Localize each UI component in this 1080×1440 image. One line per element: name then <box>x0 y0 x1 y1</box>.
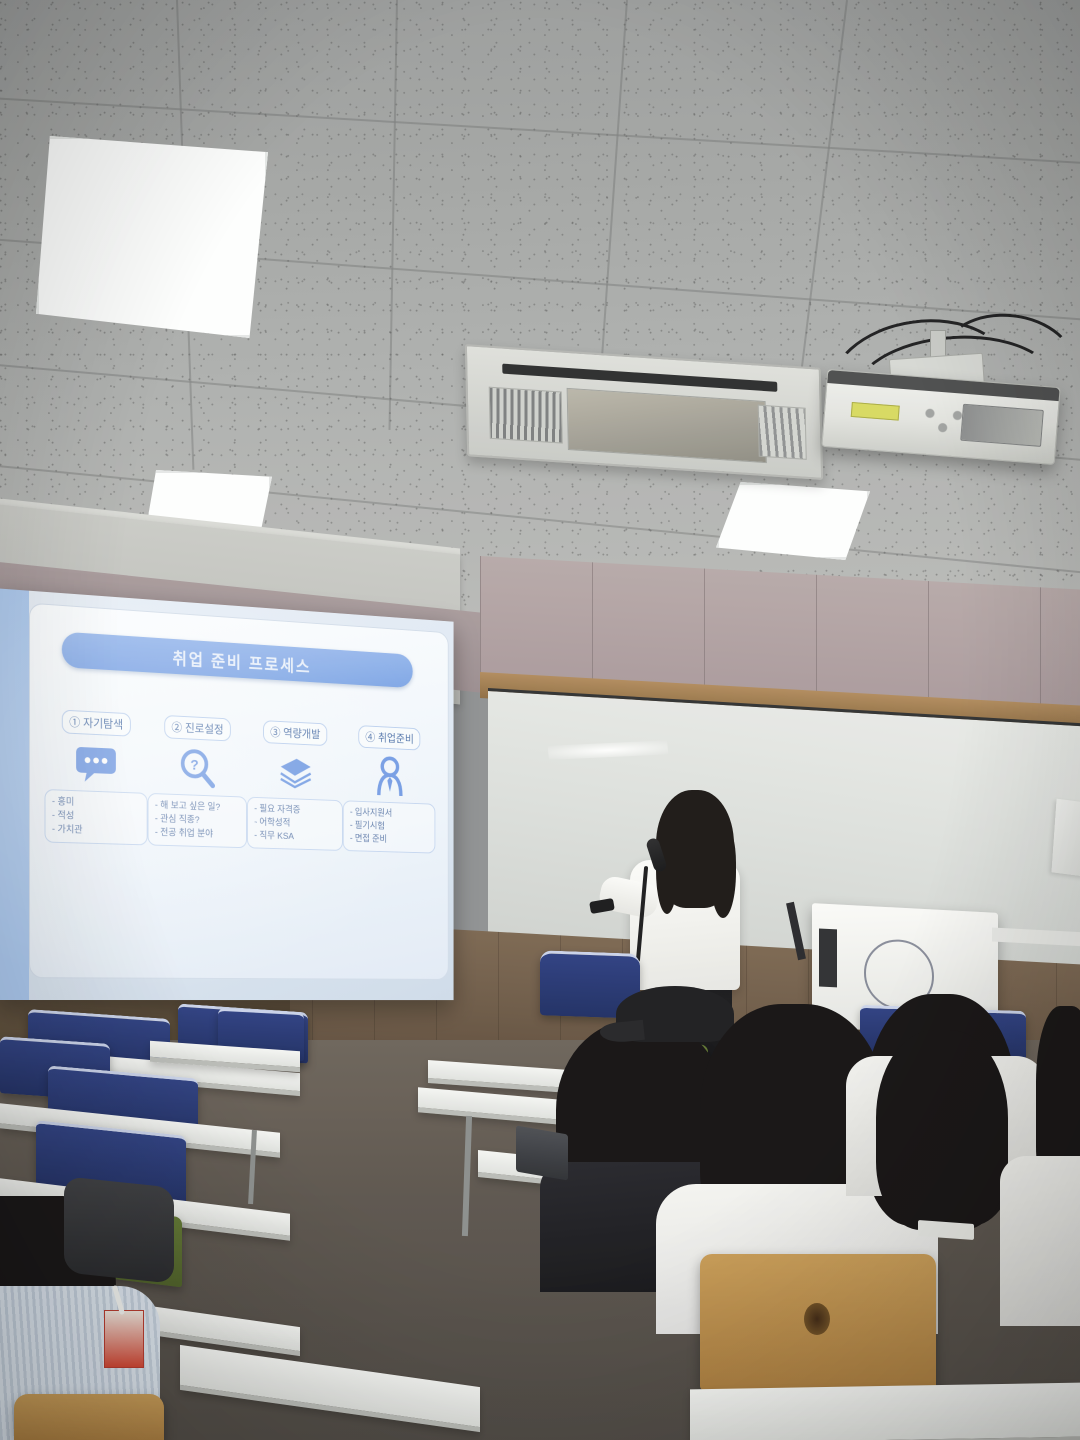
chair-burn-mark <box>804 1303 830 1335</box>
juice-carton-with-straw[interactable] <box>104 1310 144 1368</box>
slide-column-1-bullets: - 흥미 - 적성 - 가치관 <box>44 789 147 845</box>
bullet: - 가치관 <box>52 823 140 839</box>
slide-column-3-bullets: - 필요 자격증 - 어학성적 - 직무 KSA <box>247 797 343 851</box>
slide-columns: ① 자기탐색 - 흥미 - 적성 - 가치관 ② 진 <box>48 709 432 853</box>
slide-column-2: ② 진로설정 ? - 해 보고 싶은 일? - 관심 직종? - 전공 취업 분… <box>151 715 243 848</box>
books-icon <box>277 751 314 796</box>
speech-bubble-icon <box>75 741 117 788</box>
bullet: - 직무 KSA <box>254 829 336 845</box>
tablet-device[interactable] <box>516 1125 568 1180</box>
slide-column-2-header: ② 진로설정 <box>164 715 231 741</box>
ac-filter-face <box>566 387 766 463</box>
whiteboard-cloth <box>1051 799 1080 877</box>
chair-wood-foreground-left[interactable] <box>14 1394 164 1440</box>
slide-column-1-header: ① 자기탐색 <box>62 710 131 737</box>
slide-column-4-header: ④ 취업준비 <box>359 725 421 750</box>
person-tie-icon <box>374 755 406 799</box>
svg-text:?: ? <box>191 758 199 774</box>
slide-left-band <box>0 588 29 1000</box>
bullet: - 면접 준비 <box>350 832 429 847</box>
student-hair-front <box>876 1030 1008 1230</box>
ac-louver <box>758 404 807 459</box>
ac-side-grill <box>489 387 562 444</box>
slide-title: 취업 준비 프로세스 <box>173 645 312 678</box>
podium-side-panel <box>819 928 837 987</box>
slide-title-bar: 취업 준비 프로세스 <box>61 632 412 689</box>
presenter-hair <box>656 790 734 908</box>
projector-port-panel <box>960 404 1044 447</box>
slide-column-3: ③ 역량개발 - 필요 자격증 - 어학성적 - 직무 KSA <box>251 720 340 851</box>
classroom-photo: 취업 준비 프로세스 ① 자기탐색 - 흥미 - 적성 - 가 <box>0 0 1080 1440</box>
whiteboard-glare <box>548 740 669 759</box>
ac-vent-slit <box>502 364 777 392</box>
bullet: - 전공 취업 분야 <box>155 826 240 842</box>
slide-column-3-header: ③ 역량개발 <box>263 720 327 746</box>
ceiling-light-panel-1 <box>36 136 268 338</box>
student-top <box>1000 1156 1080 1326</box>
slide-column-2-bullets: - 해 보고 싶은 일? - 관심 직종? - 전공 취업 분야 <box>147 793 246 848</box>
slide-content: 취업 준비 프로세스 ① 자기탐색 - 흥미 - 적성 - 가 <box>29 603 449 980</box>
projection-screen: 취업 준비 프로세스 ① 자기탐색 - 흥미 - 적성 - 가 <box>0 588 454 1000</box>
ceiling-cassette-air-conditioner <box>465 344 823 480</box>
slide-column-4-bullets: - 입사지원서 - 필기시험 - 면접 준비 <box>343 801 436 854</box>
slide-column-1: ① 자기탐색 - 흥미 - 적성 - 가치관 <box>48 709 144 845</box>
chair-wood-foreground[interactable] <box>700 1254 936 1390</box>
slide-column-4: ④ 취업준비 - 입사지원서 - 필기시험 - 면접 준비 <box>346 725 432 853</box>
backpack <box>64 1176 174 1284</box>
magnifier-question-icon: ? <box>179 746 215 792</box>
desk-foreground <box>690 1383 1080 1440</box>
projector-label-sticker <box>850 402 899 420</box>
ceiling-light-panel-3 <box>716 482 870 560</box>
